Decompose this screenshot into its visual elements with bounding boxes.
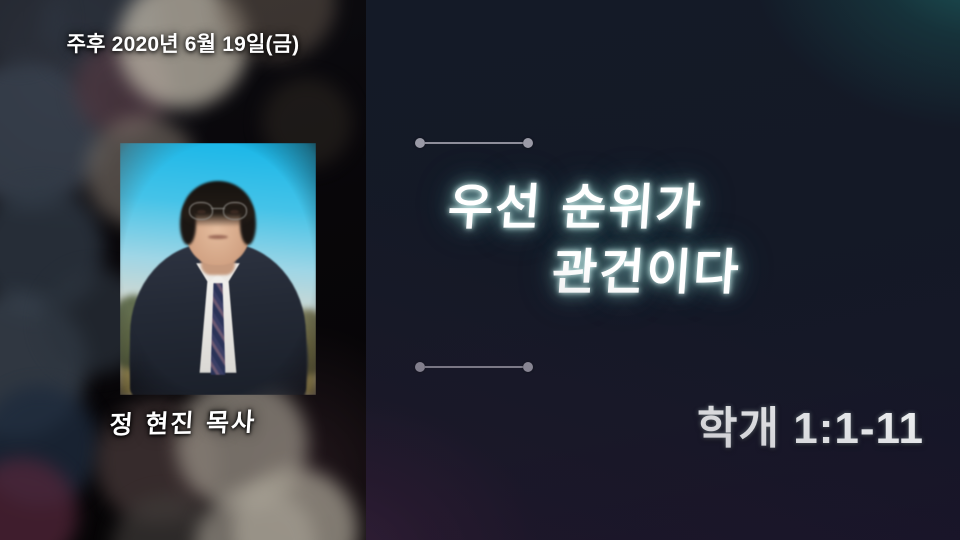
bokeh-circle bbox=[0, 458, 78, 540]
sermon-title-slide: 주후 2020년 6월 19일(금) 정 현진 목사 우선 순위가 관건이다 학… bbox=[0, 0, 960, 540]
glasses-lens-right bbox=[223, 202, 247, 220]
rule-bar bbox=[425, 366, 523, 368]
bokeh-circle bbox=[0, 386, 100, 506]
scripture-reference: 학개 1:1-11 bbox=[366, 392, 960, 456]
rule-dot-left bbox=[415, 362, 425, 372]
preacher-portrait bbox=[120, 143, 316, 395]
decorative-rule-top bbox=[415, 137, 533, 149]
bokeh-circle bbox=[176, 378, 308, 510]
glasses-lens-left bbox=[189, 202, 213, 220]
bokeh-circle bbox=[0, 186, 104, 314]
service-date: 주후 2020년 6월 19일(금) bbox=[0, 28, 366, 58]
decorative-rule-bottom bbox=[415, 361, 533, 373]
bokeh-circle bbox=[232, 468, 358, 540]
rule-bar bbox=[425, 142, 523, 144]
portrait-mouth bbox=[208, 235, 228, 239]
sermon-title-line-1: 우선 순위가 bbox=[366, 176, 960, 241]
portrait-glasses bbox=[189, 202, 247, 219]
rule-dot-right bbox=[523, 362, 533, 372]
right-panel: 우선 순위가 관건이다 학개 1:1-11 bbox=[366, 0, 960, 540]
rule-dot-left bbox=[415, 138, 425, 148]
preacher-name: 정 현진 목사 bbox=[0, 400, 366, 444]
sermon-title: 우선 순위가 관건이다 bbox=[366, 176, 960, 305]
bokeh-circle-foreground bbox=[196, 486, 316, 540]
rule-dot-right bbox=[523, 138, 533, 148]
bokeh-circle bbox=[112, 494, 220, 540]
sermon-title-line-2: 관건이다 bbox=[366, 241, 960, 306]
bokeh-circle bbox=[0, 58, 104, 208]
left-panel: 주후 2020년 6월 19일(금) 정 현진 목사 bbox=[0, 0, 366, 540]
